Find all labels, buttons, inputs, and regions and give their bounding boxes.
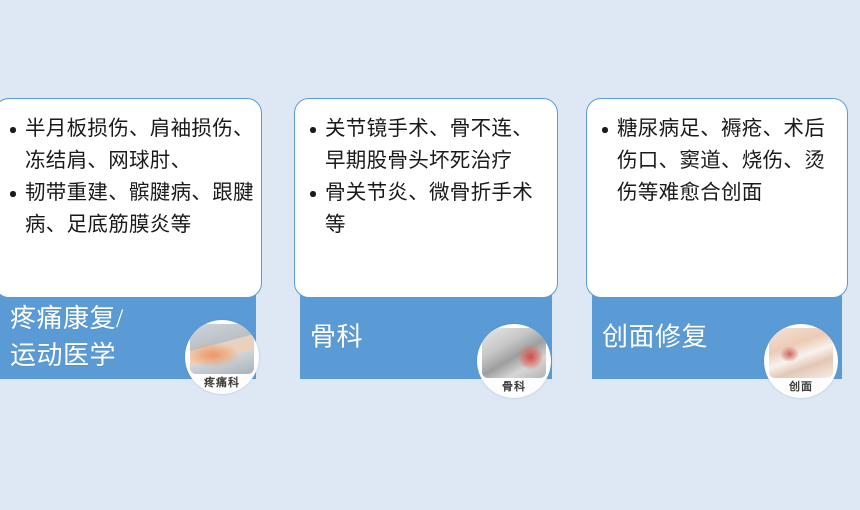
badge-wound-repair: 创面 bbox=[764, 324, 838, 398]
pain-therapy-photo bbox=[190, 324, 254, 374]
badge-orthopedics: 骨科 bbox=[477, 324, 551, 398]
card-title: 骨科 bbox=[310, 319, 363, 356]
list-item: 糖尿病足、褥疮、术后伤口、窦道、烧伤、烫伤等难愈合创面 bbox=[617, 113, 841, 209]
badge-caption: 骨科 bbox=[477, 378, 551, 394]
bullet-list: 半月板损伤、肩袖损伤、冻结肩、网球肘、 韧带重建、髌腱病、跟腱病、足底筋膜炎等 bbox=[0, 99, 261, 241]
card-content-panel: 关节镜手术、骨不连、早期股骨头坏死治疗 骨关节炎、微骨折手术等 bbox=[294, 98, 558, 298]
knee-pain-photo bbox=[482, 328, 546, 378]
card-title: 创面修复 bbox=[602, 319, 708, 356]
list-item: 骨关节炎、微骨折手术等 bbox=[325, 177, 551, 241]
card-content-panel: 半月板损伤、肩袖损伤、冻结肩、网球肘、 韧带重建、髌腱病、跟腱病、足底筋膜炎等 bbox=[0, 98, 262, 298]
bullet-list: 关节镜手术、骨不连、早期股骨头坏死治疗 骨关节炎、微骨折手术等 bbox=[295, 99, 557, 241]
card-title: 疼痛康复/ 运动医学 bbox=[10, 300, 124, 374]
list-item: 关节镜手术、骨不连、早期股骨头坏死治疗 bbox=[325, 113, 551, 177]
list-item: 韧带重建、髌腱病、跟腱病、足底筋膜炎等 bbox=[25, 177, 255, 241]
list-item: 半月板损伤、肩袖损伤、冻结肩、网球肘、 bbox=[25, 113, 255, 177]
badge-caption: 创面 bbox=[764, 378, 838, 394]
slide-canvas: 半月板损伤、肩袖损伤、冻结肩、网球肘、 韧带重建、髌腱病、跟腱病、足底筋膜炎等 … bbox=[0, 0, 860, 510]
badge-pain-therapy: 疼痛科 bbox=[185, 320, 259, 394]
badge-caption: 疼痛科 bbox=[185, 374, 259, 390]
card-content-panel: 糖尿病足、褥疮、术后伤口、窦道、烧伤、烫伤等难愈合创面 bbox=[586, 98, 848, 298]
bullet-list: 糖尿病足、褥疮、术后伤口、窦道、烧伤、烫伤等难愈合创面 bbox=[587, 99, 847, 209]
wound-care-photo bbox=[769, 328, 833, 378]
